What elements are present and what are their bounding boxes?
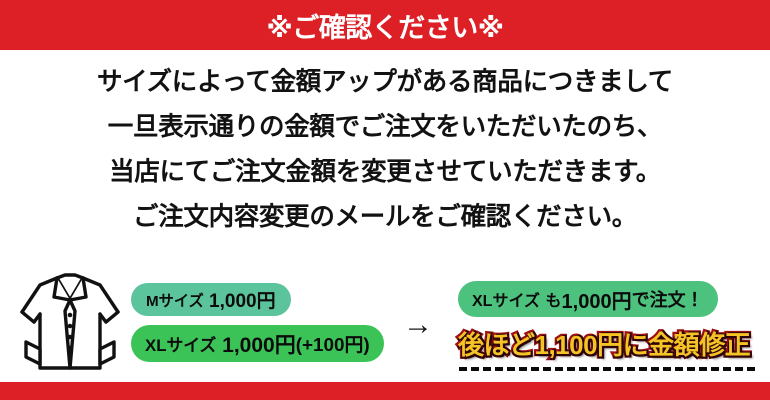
price-comparison-row: Mサイズ 1,000円 XLサイズ 1,000円(+100円) → XLサイズ … xyxy=(0,262,770,380)
xl-size-price: 1,000円 xyxy=(222,329,296,359)
notice-banner-image: ※ご確認ください※ サイズによって金額アップがある商品につきまして 一旦表示通り… xyxy=(0,0,770,400)
price-pill-xl-size: XLサイズ 1,000円(+100円) xyxy=(131,325,384,362)
xl-order-price: 1,000円 xyxy=(562,285,632,314)
notice-line-2: 一旦表示通りの金額でご注文をいただいたのち、 xyxy=(0,105,770,150)
notice-line-3: 当店にてご注文金額を変更させていただきます。 xyxy=(0,150,770,195)
correction-text: 後ほど1,100円に金額修正 xyxy=(458,325,750,362)
notice-line-4: ご注文内容変更のメールをご確認ください。 xyxy=(0,195,770,240)
m-size-price: 1,000円 xyxy=(209,286,276,313)
xl-order-mo: も xyxy=(546,287,562,311)
m-size-label: Mサイズ xyxy=(146,289,204,311)
bottom-red-band xyxy=(0,382,770,400)
dress-shirt-icon xyxy=(14,270,126,378)
price-pill-xl-order: XLサイズ も1,000円で注文！ xyxy=(458,281,718,317)
page-title: ※ご確認ください※ xyxy=(0,0,770,50)
price-correction-note: 後ほど1,100円に金額修正 xyxy=(458,325,758,377)
xl-order-suffix: で注文！ xyxy=(632,286,704,312)
xl-size-label: XLサイズ xyxy=(145,332,216,356)
dashed-underline xyxy=(459,367,755,371)
price-pill-m-size: Mサイズ 1,000円 xyxy=(131,283,291,316)
xl-size-surcharge: (+100円) xyxy=(296,330,370,357)
xl-order-label: XLサイズ xyxy=(472,287,540,311)
notice-body: サイズによって金額アップがある商品につきまして 一旦表示通りの金額でご注文をいた… xyxy=(0,60,770,240)
notice-line-1: サイズによって金額アップがある商品につきまして xyxy=(0,60,770,105)
right-arrow-icon: → xyxy=(403,310,433,340)
